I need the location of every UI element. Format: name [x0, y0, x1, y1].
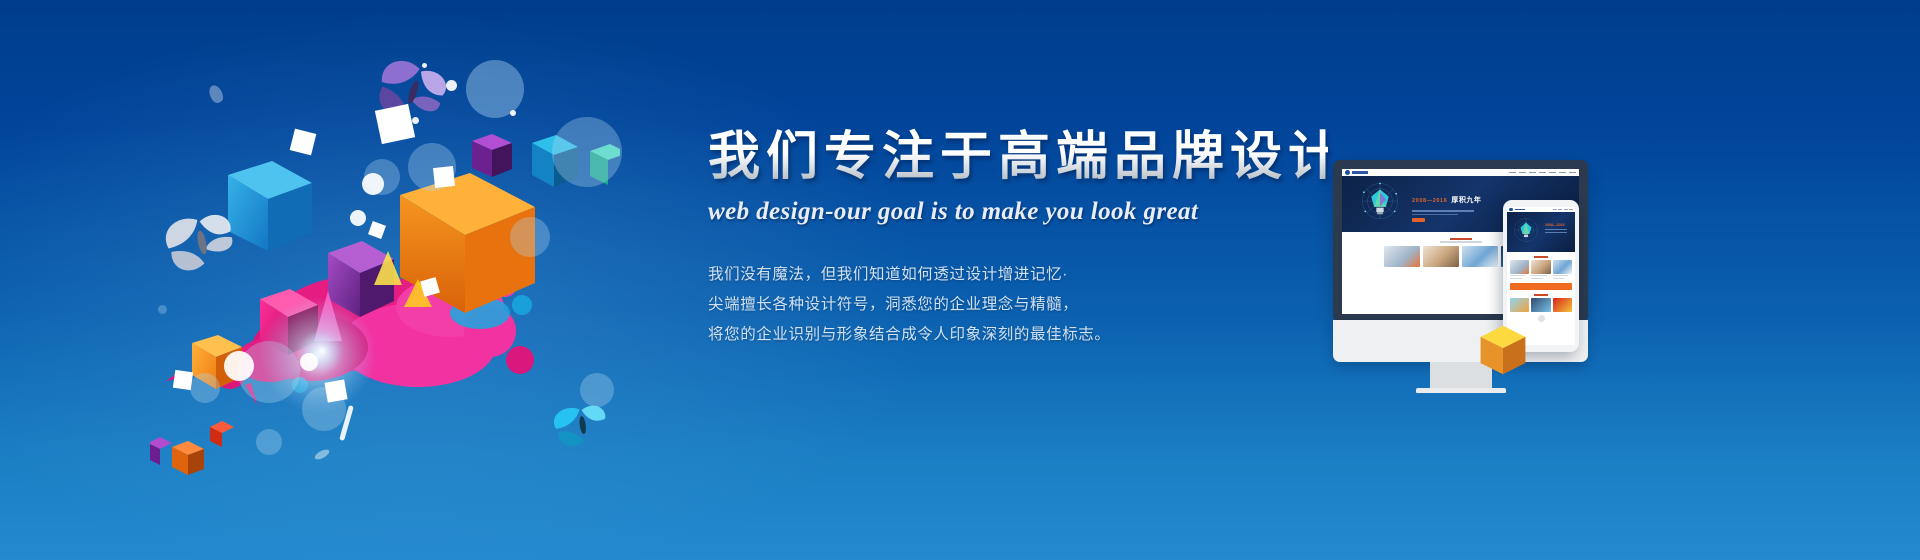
phone-card-caption: [1531, 278, 1543, 279]
blue-cube: [228, 161, 312, 251]
phone-card: [1553, 260, 1572, 279]
bokeh-circle: [190, 373, 220, 403]
nav-item: [1529, 172, 1536, 174]
bokeh-dot: [412, 117, 419, 124]
butterfly-bottom: [552, 403, 609, 448]
monitor-stand-foot: [1416, 388, 1506, 393]
phone-section-title: [1534, 294, 1548, 296]
copy-block: 我们专注于高端品牌设计 web design-our goal is to ma…: [708, 128, 1328, 350]
phone-logo-icon: [1509, 208, 1513, 212]
site-logo-icon: [1345, 170, 1350, 175]
section-subline: [1440, 241, 1482, 242]
page-title: 我们专注于高端品牌设计: [708, 128, 1328, 186]
phone-hero-banner: 2008—2016: [1507, 212, 1575, 252]
phone-card-image: [1531, 260, 1550, 274]
site-logo-text: [1352, 171, 1368, 174]
nav-item: [1564, 209, 1568, 210]
bokeh-circle: [510, 217, 550, 257]
phone-card-caption: [1510, 278, 1522, 279]
hero-text: 2008—2016厚积九年: [1412, 189, 1481, 222]
phone-hero-line: [1545, 229, 1567, 230]
phone-card-image: [1510, 260, 1529, 274]
bokeh-dot: [446, 80, 457, 91]
page-subtitle: web design-our goal is to make you look …: [708, 198, 1328, 226]
bokeh-circle: [256, 429, 282, 455]
bokeh-dot: [158, 305, 167, 314]
lightbulb-network-icon: [1511, 217, 1541, 247]
body-line-3: 将您的企业识别与形象结合成令人印象深刻的最佳标志。: [708, 320, 1328, 350]
site-nav: [1509, 172, 1576, 174]
butterfly-left: [162, 210, 237, 274]
body-line-2: 尖端擅长各种设计符号，洞悉您的企业理念与精髓，: [708, 290, 1328, 320]
section-title: [1450, 238, 1472, 240]
phone-card-caption: [1531, 275, 1546, 276]
nav-item: [1549, 172, 1556, 174]
cube-cluster-bottomleft: [150, 421, 234, 475]
phone-hero-line: [1545, 232, 1567, 233]
hero-banner: 我们专注于高端品牌设计 web design-our goal is to ma…: [0, 0, 1920, 560]
phone-nav: [1553, 209, 1574, 210]
nav-item: [1558, 209, 1562, 210]
phone-card-image: [1553, 260, 1572, 274]
bokeh-dot: [510, 110, 516, 116]
phone-card-row: [1510, 298, 1572, 312]
bokeh-dot: [224, 351, 254, 381]
phone-card: [1510, 298, 1529, 312]
bokeh-circle: [580, 373, 614, 407]
hero-cta-button: [1412, 218, 1425, 222]
phone-hero-text: 2008—2016: [1545, 223, 1567, 233]
nav-item: [1539, 172, 1546, 174]
nav-item: [1569, 209, 1573, 210]
nav-item: [1519, 172, 1526, 174]
phone-hero-year: 2008—2016: [1545, 223, 1567, 227]
hero-subline: [1412, 214, 1458, 216]
phone-home-button: [1538, 315, 1545, 322]
phone-card: [1531, 260, 1550, 279]
lightbulb-network-icon: [1358, 182, 1402, 226]
phone-cta-button: [1510, 283, 1572, 290]
phone-card-caption: [1510, 275, 1525, 276]
white-square: [433, 166, 455, 188]
phone-card: [1553, 298, 1572, 312]
phone-card: [1531, 298, 1550, 312]
artwork-graphic: [150, 55, 620, 475]
phone-card-image: [1510, 298, 1529, 312]
orange-cube-decoration: [1475, 322, 1531, 378]
nav-item: [1569, 172, 1576, 174]
body-copy: 我们没有魔法，但我们知道如何透过设计增进记忆· 尖端擅长各种设计符号，洞悉您的企…: [708, 260, 1328, 350]
phone-card: [1510, 260, 1529, 279]
bokeh-dot: [350, 210, 366, 226]
phone-card-image: [1553, 298, 1572, 312]
white-square: [324, 379, 347, 402]
hero-slogan: 厚积九年: [1451, 197, 1481, 204]
nav-item: [1509, 172, 1516, 174]
hero-year-range: 2008—2016: [1412, 198, 1447, 204]
phone-card-caption: [1553, 275, 1568, 276]
phone-logo-text: [1515, 209, 1525, 211]
phone-card-caption: [1553, 278, 1565, 279]
thumbnail-writing-hand: [1423, 246, 1459, 267]
thumbnail-design-tools: [1384, 246, 1420, 267]
bokeh-circle: [466, 60, 524, 118]
bokeh-dot: [422, 63, 427, 68]
hero-subline: [1412, 210, 1474, 212]
nav-item: [1559, 172, 1566, 174]
bokeh-dot: [300, 353, 318, 371]
white-square: [173, 370, 193, 390]
phone-card-row: [1510, 260, 1572, 279]
bokeh-circle: [552, 117, 622, 187]
phone-card-image: [1531, 298, 1550, 312]
thumbnail-mobile-hand: [1462, 246, 1498, 267]
bokeh-dot: [362, 173, 384, 195]
white-square: [375, 104, 415, 144]
site-header: [1342, 169, 1579, 176]
body-line-1: 我们没有魔法，但我们知道如何透过设计增进记忆·: [708, 260, 1328, 290]
device-mockups: 2008—2016厚积九年: [1325, 160, 1645, 410]
nav-item: [1553, 209, 1557, 210]
phone-section-title: [1534, 256, 1548, 258]
